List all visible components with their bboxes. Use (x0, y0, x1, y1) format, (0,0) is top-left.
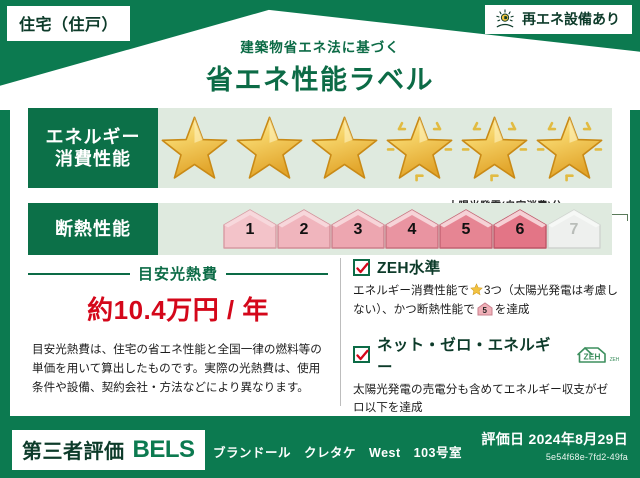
renewable-badge-label: 再エネ設備あり (522, 9, 620, 29)
energy-star-1 (158, 112, 231, 184)
svg-text:ZEH: ZEH (583, 351, 600, 361)
insulation-level-5: 5 (438, 208, 494, 250)
energy-star-5 (458, 112, 531, 184)
energy-performance-row: エネルギー 消費性能 (28, 108, 612, 188)
bels-logo-text: BELS (133, 436, 195, 464)
insulation-level-value: 5 (438, 221, 494, 239)
utility-cost-value: 約10.4万円 / 年 (28, 290, 328, 327)
insulation-level-value: 2 (276, 221, 332, 239)
zeh-logo-icon: ZEH ZEH (575, 345, 619, 365)
energy-stars-container (158, 108, 612, 188)
renewable-equipment-badge: 再エネ設備あり (485, 5, 632, 34)
insulation-performance-row: 断熱性能 1 2 3 4 5 6 7 (28, 203, 612, 255)
criteria-nze-header: ネット・ゼロ・エネルギー ZEH ZEH (353, 333, 619, 377)
zeh-logo-subtext: ZEH (610, 357, 619, 365)
insulation-label-text: 断熱性能 (55, 218, 131, 241)
utility-cost-heading-text: 目安光熱費 (138, 263, 218, 284)
energy-star-3 (308, 112, 381, 184)
bels-footer-bar: 第三者評価 BELS ブランドール クレタケ West 103号室 評価日 20… (0, 420, 640, 478)
inline-house-value: 5 (477, 305, 493, 318)
criteria-zeh-desc-part1: エネルギー消費性能で (353, 284, 469, 297)
energy-star-4 (383, 112, 456, 184)
insulation-level-value: 6 (492, 221, 548, 239)
sun-icon (494, 9, 516, 29)
heading-rule-right (226, 273, 328, 275)
insulation-level-3: 3 (330, 208, 386, 250)
insulation-level-2: 2 (276, 208, 332, 250)
bels-badge: 第三者評価 BELS (12, 430, 205, 470)
insulation-level-value: 7 (546, 221, 602, 239)
evaluation-id: 5e54f68e-7fd2-49fa (481, 452, 628, 462)
criteria-zeh-desc-part3: を達成 (495, 303, 530, 316)
insulation-level-icon-inline: 5 (477, 302, 493, 316)
heading-rule-left (28, 273, 130, 275)
utility-cost-section: 目安光熱費 約10.4万円 / 年 目安光熱費は、住宅の省エネ性能と全国一律の燃… (28, 263, 328, 397)
title-subtitle: 建築物省エネ法に基づく (0, 36, 640, 56)
criteria-zeh-description: エネルギー消費性能で3つ（太陽光発電は考慮しない）、かつ断熱性能で5を達成 (353, 282, 619, 320)
page-title: 省エネ性能ラベル (0, 58, 640, 97)
evaluation-info: 評価日 2024年8月29日 5e54f68e-7fd2-49fa (481, 429, 628, 462)
insulation-level-value: 1 (222, 221, 278, 239)
criteria-nze-title: ネット・ゼロ・エネルギー (377, 333, 564, 377)
energy-performance-label: エネルギー 消費性能 (28, 108, 158, 188)
insulation-performance-label: 断熱性能 (28, 203, 158, 255)
bels-japanese-label: 第三者評価 (22, 435, 125, 464)
criteria-zeh-title: ZEH水準 (377, 256, 441, 278)
energy-star-6 (533, 112, 606, 184)
insulation-level-7: 7 (546, 208, 602, 250)
utility-cost-note: 目安光熱費は、住宅の省エネ性能と全国一律の燃料等の単価を用いて算出したものです。… (28, 341, 328, 397)
insulation-level-4: 4 (384, 208, 440, 250)
star-icon (470, 283, 483, 296)
evaluation-date: 評価日 2024年8月29日 (481, 429, 628, 449)
criteria-zeh-header: ZEH水準 (353, 256, 619, 278)
utility-cost-heading: 目安光熱費 (28, 263, 328, 284)
insulation-level-value: 3 (330, 221, 386, 239)
title-block: 建築物省エネ法に基づく 省エネ性能ラベル (0, 36, 640, 97)
criteria-item-net-zero-energy: ネット・ゼロ・エネルギー ZEH ZEH 太陽光発電の売電分も含めてエネルギー収… (353, 333, 619, 419)
insulation-level-1: 1 (222, 208, 278, 250)
criteria-nze-description: 太陽光発電の売電分も含めてエネルギー収支がゼロ以下を達成 (353, 381, 619, 419)
checkbox-checked-icon (353, 259, 370, 276)
property-name: ブランドール クレタケ West 103号室 (213, 442, 462, 461)
insulation-level-6: 6 (492, 208, 548, 250)
energy-label-line2: 消費性能 (55, 148, 131, 171)
energy-label-root: 住宅（住戸） 再エネ設備あり 建築物省エネ法に基づく 省エネ性能ラベル (0, 0, 640, 478)
insulation-levels-container: 1 2 3 4 5 6 7 (158, 203, 612, 255)
label-card: エネルギー 消費性能 (10, 98, 630, 416)
checkbox-checked-icon-2 (353, 346, 370, 363)
insulation-level-value: 4 (384, 221, 440, 239)
energy-label-line1: エネルギー (46, 126, 141, 149)
column-divider (340, 258, 341, 406)
criteria-column: ZEH水準 エネルギー消費性能で3つ（太陽光発電は考慮しない）、かつ断熱性能で5… (353, 256, 619, 431)
criteria-item-zeh-standard: ZEH水準 エネルギー消費性能で3つ（太陽光発電は考慮しない）、かつ断熱性能で5… (353, 256, 619, 320)
energy-star-2 (233, 112, 306, 184)
